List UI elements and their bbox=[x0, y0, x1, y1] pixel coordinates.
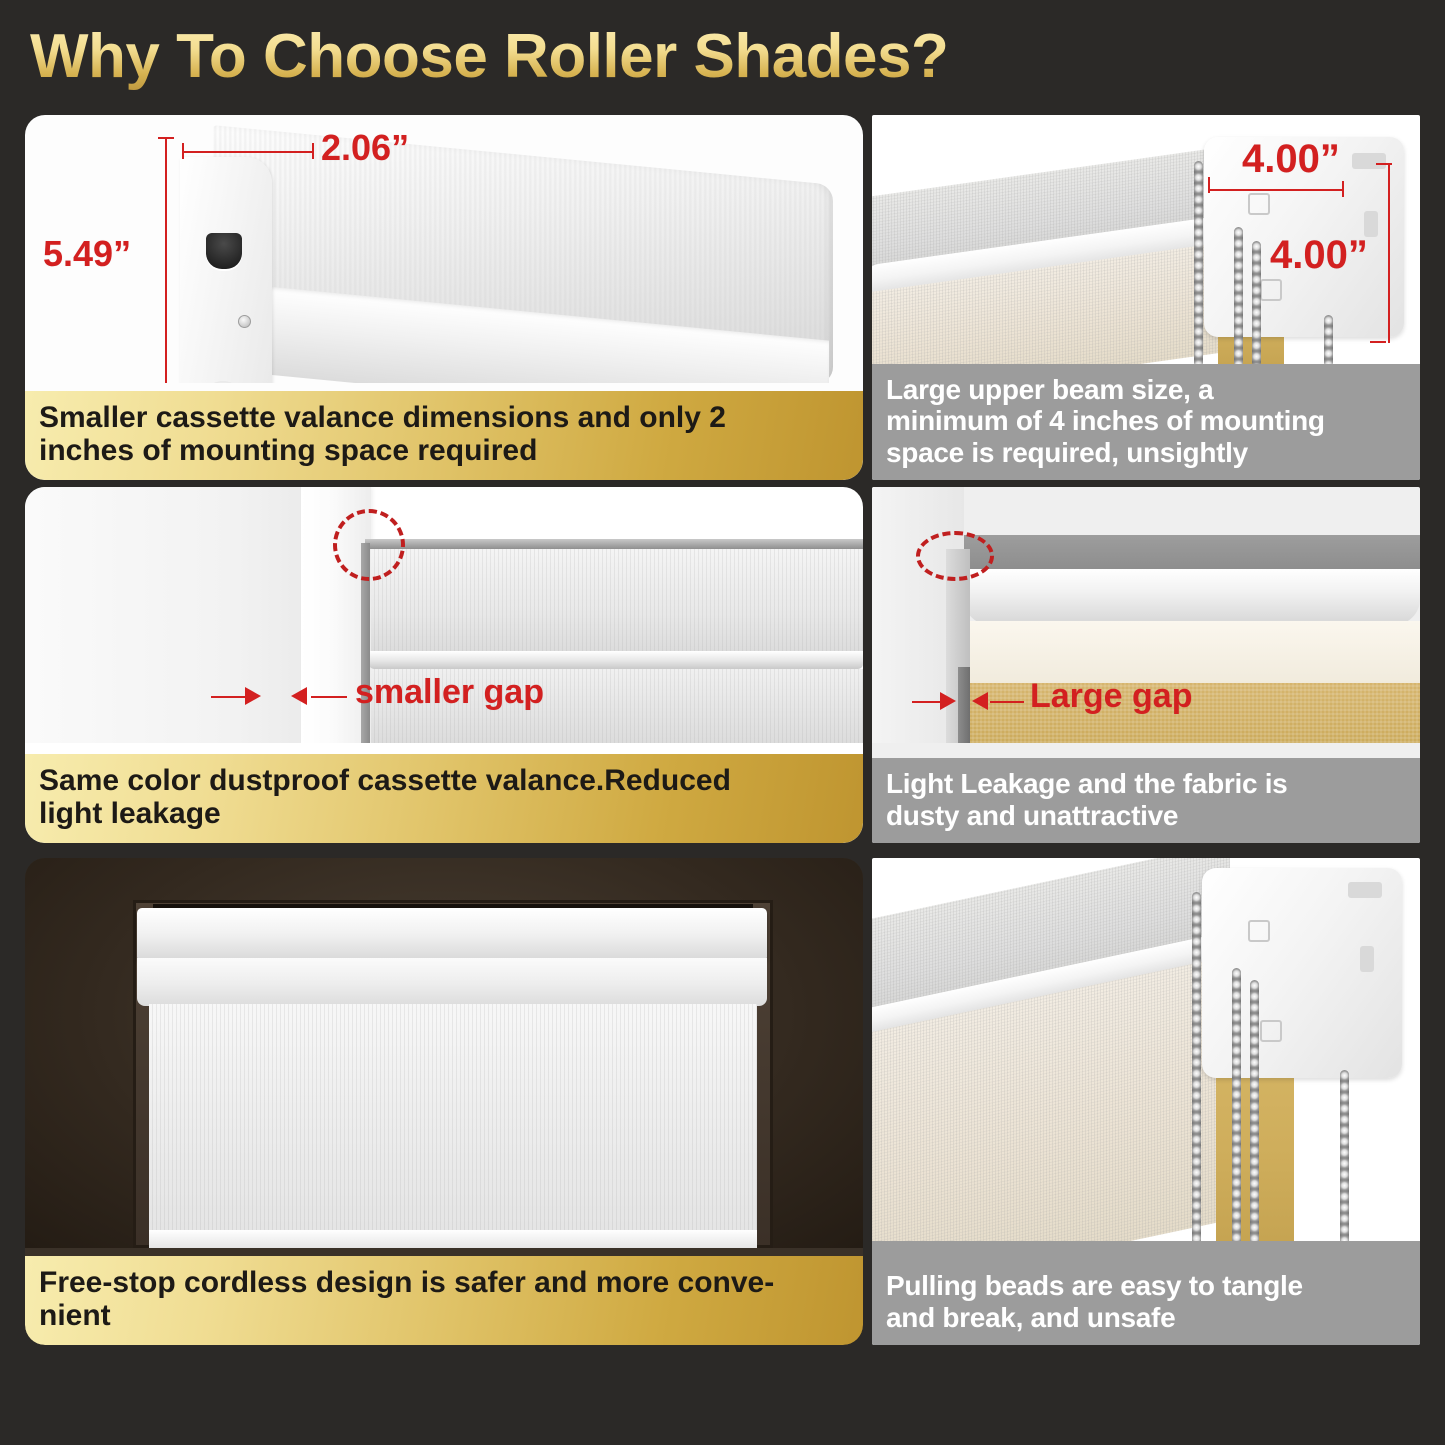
panel-pulling-beads: Pulling beads are easy to tangle and bre… bbox=[872, 858, 1420, 1345]
caption-panel-6: Pulling beads are easy to tangle and bre… bbox=[872, 1260, 1420, 1345]
caption-line: Smaller cassette valance dimensions and … bbox=[39, 401, 849, 435]
caption-line: nient bbox=[39, 1299, 849, 1333]
caption-line: Light Leakage and the fabric is bbox=[886, 768, 1406, 799]
fabric-cream bbox=[968, 621, 1420, 683]
cassette-valance bbox=[137, 908, 767, 960]
endcap-knob bbox=[202, 381, 244, 383]
panel-smaller-cassette: 2.06” 5.49” Smaller cassette valance dim… bbox=[25, 115, 863, 480]
panel-light-leakage: Large gap Light Leakage and the fabric i… bbox=[872, 487, 1420, 843]
infographic-page: Why To Choose Roller Shades? 2.06” 5.49” bbox=[0, 0, 1445, 1445]
gap-callout-label: Large gap bbox=[1030, 677, 1192, 716]
caption-line: minimum of 4 inches of mounting bbox=[886, 405, 1406, 436]
height-dimension-tick-top bbox=[1376, 163, 1392, 165]
height-dimension-label: 4.00” bbox=[1270, 233, 1368, 278]
bead-chain-4 bbox=[1324, 315, 1333, 367]
roller-tube bbox=[964, 569, 1420, 625]
caption-line: Same color dustproof cassette valance.Re… bbox=[39, 764, 849, 798]
endcap-slot bbox=[206, 233, 242, 269]
caption-panel-2: Large upper beam size, a minimum of 4 in… bbox=[872, 364, 1420, 480]
bracket-arrow-upper bbox=[1248, 193, 1270, 215]
bracket-arrow-upper bbox=[1248, 920, 1270, 942]
endcap-screw bbox=[238, 315, 251, 328]
photo-cassette-valance-profile: 2.06” 5.49” bbox=[25, 115, 863, 383]
gap-callout-label: smaller gap bbox=[355, 673, 544, 712]
height-dimension-line bbox=[165, 137, 167, 383]
caption-line: space is required, unsightly bbox=[886, 437, 1406, 468]
highlight-ellipse-icon bbox=[916, 531, 994, 581]
bracket-notch-top bbox=[1348, 882, 1382, 898]
bead-chain-4 bbox=[1340, 1070, 1349, 1262]
bead-chain-3 bbox=[1250, 980, 1259, 1262]
width-dimension-line bbox=[182, 151, 314, 153]
page-title: Why To Choose Roller Shades? bbox=[30, 18, 1030, 96]
caption-panel-4: Light Leakage and the fabric is dusty an… bbox=[872, 758, 1420, 843]
photo-window-small-gap: smaller gap bbox=[25, 487, 863, 743]
width-dimension-line bbox=[1208, 189, 1344, 191]
ceiling-shadow bbox=[964, 535, 1420, 573]
height-dimension-line bbox=[1388, 163, 1390, 343]
highlight-circle-icon bbox=[333, 509, 405, 581]
gap-arrow-shaft-right bbox=[990, 701, 1024, 703]
width-dimension-tick-right bbox=[312, 143, 314, 159]
valance-endcap bbox=[180, 157, 272, 383]
photo-window-large-gap: Large gap bbox=[872, 487, 1420, 743]
bracket-arrow-lower bbox=[1260, 1020, 1282, 1042]
caption-panel-3: Same color dustproof cassette valance.Re… bbox=[25, 754, 863, 843]
caption-line: Free-stop cordless design is safer and m… bbox=[39, 1266, 849, 1300]
bead-chain-2 bbox=[1232, 968, 1241, 1262]
bead-chain-1 bbox=[1192, 892, 1201, 1262]
height-dimension-label: 5.49” bbox=[43, 233, 131, 275]
height-dimension-tick-top bbox=[158, 137, 174, 139]
height-dimension-tick-bottom bbox=[1370, 341, 1386, 343]
width-dimension-tick-left bbox=[1208, 177, 1210, 193]
caption-line: Large upper beam size, a bbox=[886, 374, 1406, 405]
caption-panel-5: Free-stop cordless design is safer and m… bbox=[25, 1256, 863, 1345]
panel-large-upper-beam: 4.00” 4.00” Large upper beam size, a min… bbox=[872, 115, 1420, 480]
caption-line: inches of mounting space required bbox=[39, 434, 849, 468]
bead-chain-1 bbox=[1194, 161, 1203, 367]
gap-arrow-shaft-right bbox=[311, 696, 347, 698]
width-dimension-label: 4.00” bbox=[1242, 137, 1340, 182]
bracket-notch-top bbox=[1352, 153, 1386, 169]
caption-panel-1: Smaller cassette valance dimensions and … bbox=[25, 391, 863, 480]
photo-roller-beaded-chains bbox=[872, 858, 1420, 1263]
photo-roller-with-bracket: 4.00” 4.00” bbox=[872, 115, 1420, 367]
valance-lower-edge bbox=[369, 651, 863, 669]
gap-arrow-head-left bbox=[940, 692, 956, 710]
bracket-notch-mid bbox=[1360, 946, 1374, 972]
caption-line: and break, and unsafe bbox=[886, 1302, 1406, 1333]
panel-cordless-design: Free-stop cordless design is safer and m… bbox=[25, 858, 863, 1345]
caption-line: light leakage bbox=[39, 797, 849, 831]
bead-chain-2 bbox=[1234, 227, 1243, 367]
head-rail bbox=[365, 539, 863, 549]
gap-arrow-head-left bbox=[245, 687, 261, 705]
gap-arrow-shaft-left bbox=[211, 696, 249, 698]
bead-chain-3 bbox=[1252, 241, 1261, 367]
bracket-arrow-lower bbox=[1260, 279, 1282, 301]
panel-dustproof-valance: smaller gap Same color dustproof cassett… bbox=[25, 487, 863, 843]
light-gap-strip bbox=[958, 667, 970, 743]
bottom-rail bbox=[149, 1230, 757, 1248]
gap-arrow-head-right bbox=[291, 687, 307, 705]
caption-line: Pulling beads are easy to tangle bbox=[886, 1270, 1406, 1301]
width-dimension-tick-left bbox=[182, 143, 184, 159]
gap-arrow-head-right bbox=[972, 692, 988, 710]
shade-fabric bbox=[149, 1004, 757, 1240]
photo-window-room-scene bbox=[25, 858, 863, 1248]
caption-line: dusty and unattractive bbox=[886, 800, 1406, 831]
wall-surface bbox=[25, 487, 325, 743]
width-dimension-label: 2.06” bbox=[321, 127, 409, 169]
cassette-valance-lower bbox=[137, 958, 767, 1006]
width-dimension-tick-right bbox=[1342, 181, 1344, 197]
shade-fabric-upper bbox=[371, 549, 863, 657]
